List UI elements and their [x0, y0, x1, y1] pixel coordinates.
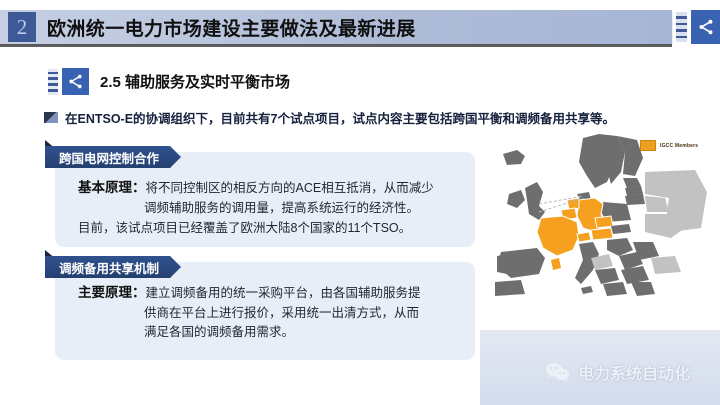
stripe-bar-icon — [676, 12, 687, 42]
panel-2-body: 主要原理：建立调频备用的统一采购平台，由各国辅助服务提 供商在平台上进行报价，采… — [78, 283, 468, 343]
body-line: 供商在平台上进行报价，采用统一出清方式，从而 — [78, 304, 468, 323]
map-legend: IGCC Members — [640, 140, 698, 151]
line-label: 主要原理： — [78, 285, 146, 300]
stripe-bar-icon — [48, 69, 58, 95]
panel-1-body: 基本原理：将不同控制区的相反方向的ACE相互抵消，从而减少 调频辅助服务的调用量… — [78, 178, 468, 239]
share-nodes-icon[interactable] — [691, 10, 720, 44]
slide-title-bar: 2 欧洲统一电力市场建设主要做法及最新进展 — [0, 10, 672, 44]
body-line: 目前，该试点项目已经覆盖了欧洲大陆8个国家的11个TSO。 — [78, 219, 468, 238]
watermark: 电力系统自动化 — [545, 360, 690, 384]
legend-label: IGCC Members — [660, 143, 698, 149]
body-line: 满足各国的调频备用需求。 — [78, 323, 468, 342]
banner-label-1: 跨国电网控制合作 — [45, 146, 181, 168]
europe-map-svg — [495, 132, 710, 310]
share-nodes-icon[interactable] — [62, 68, 89, 95]
body-line: 基本原理：将不同控制区的相反方向的ACE相互抵消，从而减少 — [78, 178, 468, 199]
wechat-icon — [545, 361, 571, 383]
line-label: 基本原理： — [78, 180, 146, 195]
body-line: 主要原理：建立调频备用的统一采购平台，由各国辅助服务提 — [78, 283, 468, 304]
watermark-text: 电力系统自动化 — [578, 360, 690, 384]
lead-text: 在ENTSO-E的协调组织下，目前共有7个试点项目，试点内容主要包括跨国平衡和调… — [65, 108, 615, 127]
line-text: 将不同控制区的相反方向的ACE相互抵消，从而减少 — [146, 181, 434, 195]
section-number-badge: 2 — [8, 12, 36, 42]
square-bullet-icon — [44, 112, 58, 123]
legend-swatch — [640, 140, 656, 151]
europe-map — [495, 132, 710, 310]
page-title: 欧洲统一电力市场建设主要做法及最新进展 — [47, 14, 416, 41]
subsection-title: 2.5 辅助服务及实时平衡市场 — [100, 71, 290, 92]
banner-label-2: 调频备用共享机制 — [45, 256, 181, 278]
line-text: 建立调频备用的统一采购平台，由各国辅助服务提 — [146, 286, 421, 300]
subsection-heading: 2.5 辅助服务及实时平衡市场 — [48, 68, 290, 95]
slide-root: 2 欧洲统一电力市场建设主要做法及最新进展 2.5 辅助服务及实 — [0, 0, 720, 405]
lead-paragraph: 在ENTSO-E的协调组织下，目前共有7个试点项目，试点内容主要包括跨国平衡和调… — [44, 108, 615, 127]
body-line: 调频辅助服务的调用量，提高系统运行的经济性。 — [78, 199, 468, 218]
